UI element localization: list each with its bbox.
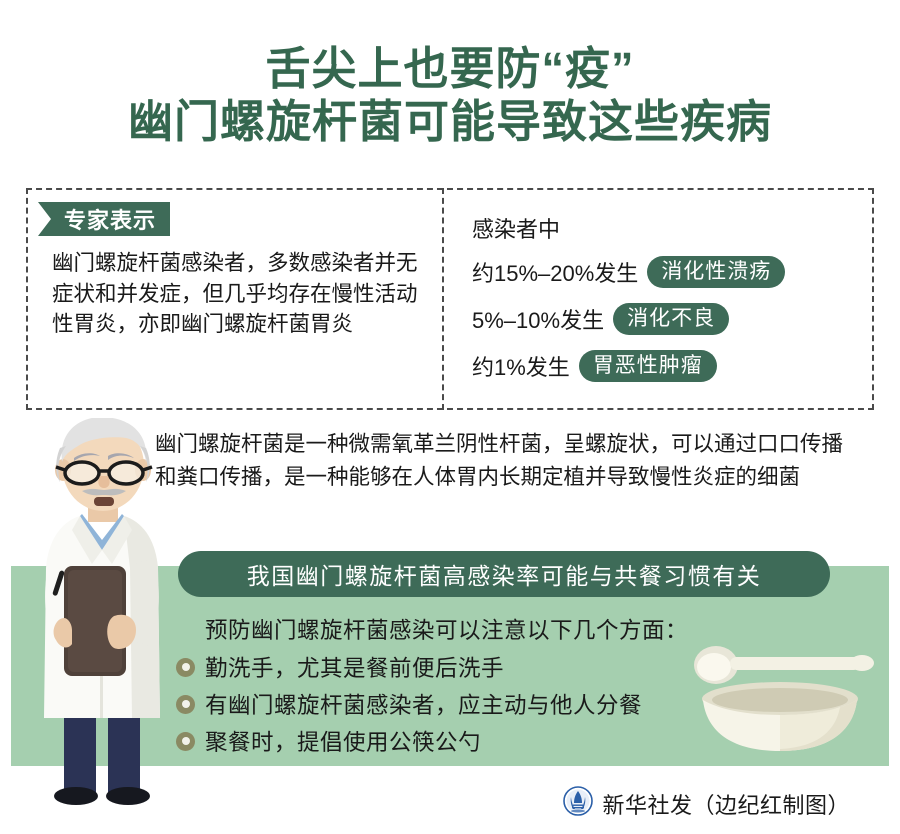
- stat-prefix: 约15%–20%发生: [472, 256, 638, 288]
- bullet-ring-icon: [176, 695, 195, 714]
- stat-row: 约15%–20%发生 消化性溃疡: [472, 256, 785, 288]
- prevention-item-label: 有幽门螺旋杆菌感染者，应主动与他人分餐: [205, 688, 642, 720]
- infographic-poster: 舌尖上也要防“疫” 幽门螺旋杆菌可能导致这些疾病 专家表示 幽门螺旋杆菌感染者，…: [0, 0, 900, 834]
- footer: 新华社发（边纪红制图）: [0, 786, 900, 821]
- stat-disease-pill: 消化性溃疡: [647, 256, 785, 288]
- expert-statement-text: 幽门螺旋杆菌感染者，多数感染者并无症状和并发症，但几乎均存在慢性活动性胃炎，亦即…: [52, 248, 427, 340]
- list-item: 有幽门螺旋杆菌感染者，应主动与他人分餐: [176, 687, 642, 721]
- title-line-2: 幽门螺旋杆菌可能导致这些疾病: [0, 95, 900, 148]
- dashed-column-divider: [442, 188, 444, 410]
- stat-prefix: 5%–10%发生: [472, 303, 604, 335]
- page-title: 舌尖上也要防“疫” 幽门螺旋杆菌可能导致这些疾病: [0, 42, 900, 148]
- stat-row: 约1%发生 胃恶性肿瘤: [472, 350, 717, 382]
- stat-row: 5%–10%发生 消化不良: [472, 303, 729, 335]
- bowl-and-spoon-illustration: [678, 643, 883, 765]
- prevention-item-label: 勤洗手，尤其是餐前便后洗手: [205, 651, 504, 683]
- highlight-banner: 我国幽门螺旋杆菌高感染率可能与共餐习惯有关: [178, 551, 830, 597]
- list-item: 勤洗手，尤其是餐前便后洗手: [176, 650, 642, 684]
- stat-disease-pill: 消化不良: [613, 303, 729, 335]
- bacteria-description-text: 幽门螺旋杆菌是一种微需氧革兰阴性杆菌，呈螺旋状，可以通过口口传播和粪口传播，是一…: [155, 428, 855, 493]
- stat-disease-pill: 胃恶性肿瘤: [579, 350, 717, 382]
- title-line-1: 舌尖上也要防“疫”: [0, 42, 900, 95]
- bullet-ring-icon: [176, 658, 195, 677]
- stats-heading: 感染者中: [472, 212, 560, 244]
- bullet-ring-icon: [176, 732, 195, 751]
- prevention-item-label: 聚餐时，提倡使用公筷公勺: [205, 725, 481, 757]
- expert-banner-label: 专家表示: [38, 202, 170, 236]
- prevention-heading: 预防幽门螺旋杆菌感染可以注意以下几个方面：: [205, 613, 688, 645]
- xinhua-logo-icon: [563, 786, 593, 821]
- stat-prefix: 约1%发生: [472, 350, 570, 382]
- list-item: 聚餐时，提倡使用公筷公勺: [176, 724, 642, 758]
- footer-credit: 新华社发（边纪红制图）: [602, 788, 850, 820]
- expert-banner: 专家表示: [38, 202, 170, 236]
- prevention-list: 勤洗手，尤其是餐前便后洗手 有幽门螺旋杆菌感染者，应主动与他人分餐 聚餐时，提倡…: [176, 650, 642, 761]
